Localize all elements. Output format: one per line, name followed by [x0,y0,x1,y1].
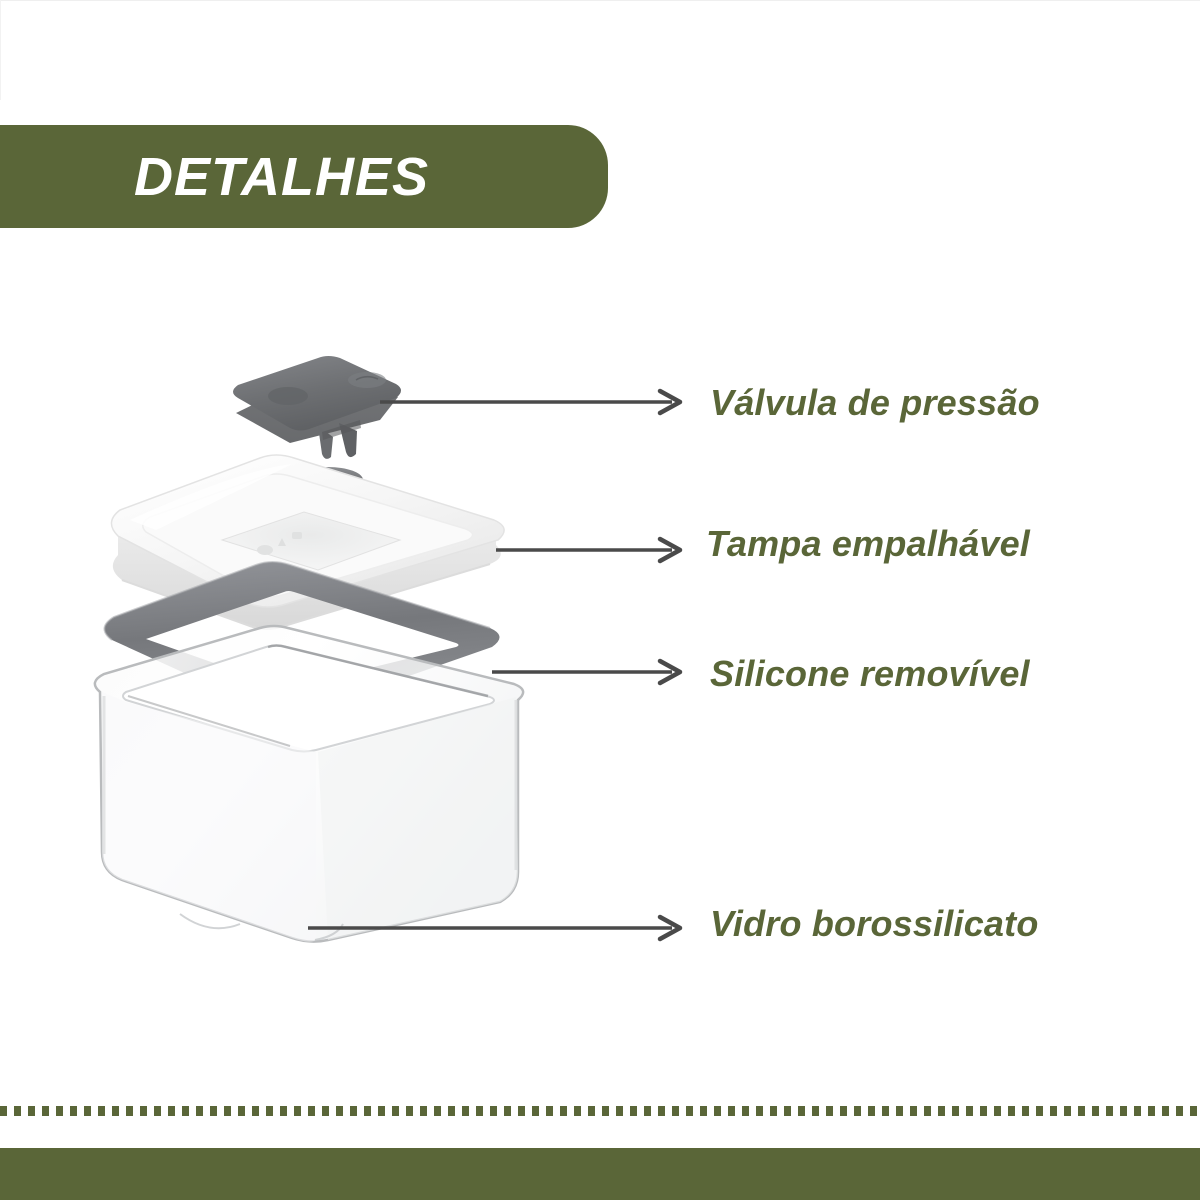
callout-label-glass: Vidro borossilicato [710,903,1039,945]
pressure-valve-part [233,356,401,459]
leader-arrow-stackable-lid [496,538,692,562]
callout-label-stackable-lid: Tampa empalhável [706,523,1030,565]
borosilicate-glass-part [95,626,523,942]
page-title: DETALHES [134,146,429,208]
leader-arrow-silicone [492,660,692,684]
left-edge-line [0,0,1,100]
product-exploded-illustration [60,340,620,960]
detail-panel: DETALHES [0,0,1200,1200]
dotted-divider [0,1106,1200,1116]
callout-label-pressure-valve: Válvula de pressão [710,382,1040,424]
footer-bar [0,1148,1200,1200]
header-banner: DETALHES [0,125,608,228]
callout-label-silicone: Silicone removível [710,653,1030,695]
leader-arrow-glass [308,916,692,940]
leader-arrow-pressure-valve [380,390,692,414]
top-edge-line [0,0,1200,1]
